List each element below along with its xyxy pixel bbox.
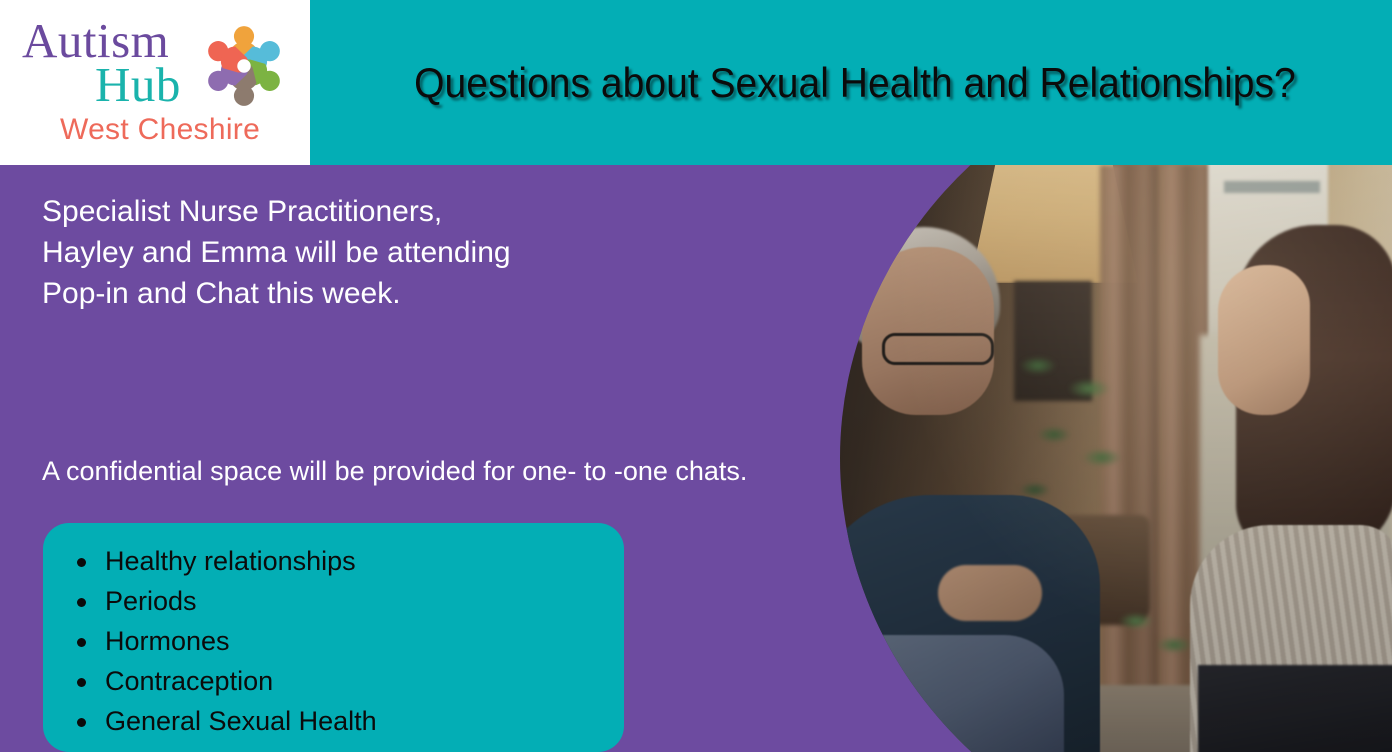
list-item: Contraception <box>105 661 624 701</box>
topics-panel: Healthy relationships Periods Hormones C… <box>43 523 624 752</box>
poster: Autism Hub West Cheshire <box>0 0 1392 752</box>
people-circle-icon <box>196 18 292 114</box>
logo-text-hub: Hub <box>95 60 181 109</box>
conversation-photo <box>800 165 1392 752</box>
list-item: Periods <box>105 581 624 621</box>
list-item: Healthy relationships <box>105 541 624 581</box>
logo-text-region: West Cheshire <box>60 115 260 145</box>
list-item: Hormones <box>105 621 624 661</box>
photo-container <box>800 165 1392 752</box>
logo-panel: Autism Hub West Cheshire <box>0 0 310 165</box>
topics-list: Healthy relationships Periods Hormones C… <box>43 523 624 741</box>
header-bar: Autism Hub West Cheshire <box>0 0 1392 165</box>
confidential-note: A confidential space will be provided fo… <box>42 454 822 488</box>
list-item: General Sexual Health <box>105 701 624 741</box>
intro-paragraph: Specialist Nurse Practitioners, Hayley a… <box>42 191 512 314</box>
photo-overlay <box>800 165 1392 752</box>
page-title: Questions about Sexual Health and Relati… <box>330 0 1380 165</box>
content-area: Specialist Nurse Practitioners, Hayley a… <box>0 165 1392 752</box>
page-title-text: Questions about Sexual Health and Relati… <box>414 59 1296 107</box>
